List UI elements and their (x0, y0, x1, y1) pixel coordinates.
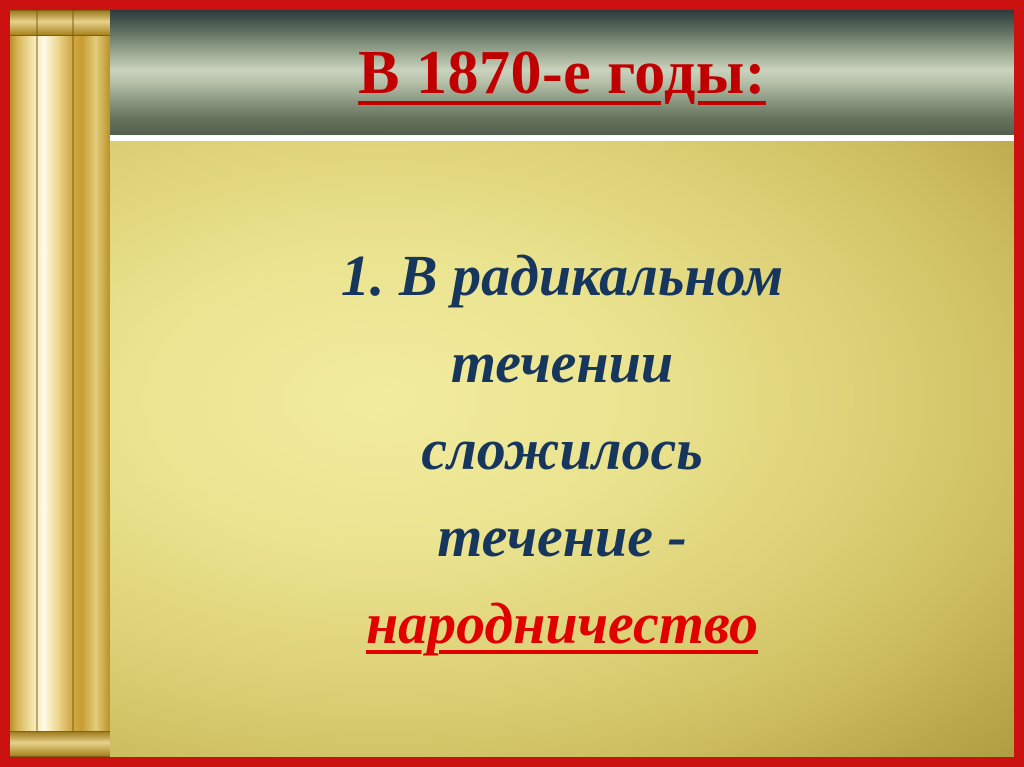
body-line-4: течение - (142, 493, 982, 580)
slide-body-text-block: 1. В радикальном течении сложилось течен… (132, 232, 992, 667)
slide-title-bar: В 1870-е годы: (110, 10, 1014, 138)
presentation-slide: В 1870-е годы: 1. В радикальном течении … (0, 0, 1024, 767)
slide-content-panel: В 1870-е годы: 1. В радикальном течении … (110, 10, 1014, 757)
body-line-1: 1. В радикальном (142, 232, 982, 319)
body-line-3: сложилось (142, 406, 982, 493)
column-seam-right (72, 10, 74, 757)
decorative-gold-column (10, 10, 110, 757)
body-line-2: течении (142, 319, 982, 406)
slide-title: В 1870-е годы: (358, 42, 766, 104)
column-seam-left (36, 10, 38, 757)
slide-body: 1. В радикальном течении сложилось течен… (110, 141, 1014, 757)
column-cap-bottom (10, 731, 110, 757)
body-line-5-keyword: народничество (142, 580, 982, 667)
column-cap-top (10, 10, 110, 36)
